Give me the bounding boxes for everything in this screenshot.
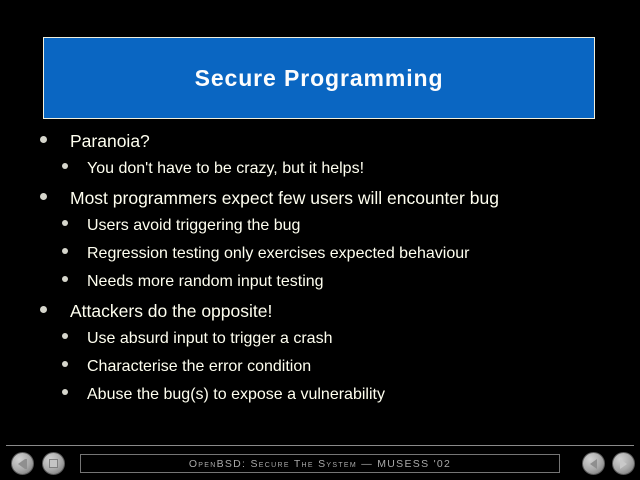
bullet-dot-icon	[40, 193, 47, 200]
bullet-label: Needs more random input testing	[87, 273, 324, 291]
skip-back-icon	[12, 453, 33, 474]
footer-caption-box: OpenBSD: Secure The System — MUSESS '02	[80, 454, 560, 473]
next-slide-button[interactable]	[612, 452, 635, 475]
bullet-label: Abuse the bug(s) to expose a vulnerabili…	[87, 386, 385, 404]
bullet-item: Paranoia?	[0, 131, 640, 160]
bullet-dot-icon	[62, 276, 68, 282]
bullet-dot-icon	[62, 361, 68, 367]
bullet-item: Characterise the error condition	[0, 358, 640, 386]
bullet-dot-icon	[62, 389, 68, 395]
bullet-label: Characterise the error condition	[87, 358, 311, 376]
bullet-item: Regression testing only exercises expect…	[0, 245, 640, 273]
first-slide-button[interactable]	[11, 452, 34, 475]
bullet-item: Use absurd input to trigger a crash	[0, 330, 640, 358]
bullet-label: You don't have to be crazy, but it helps…	[87, 160, 364, 178]
bullet-dot-icon	[40, 136, 47, 143]
stop-square-icon	[43, 453, 64, 474]
slide-canvas: Secure Programming Paranoia? You don't h…	[0, 0, 640, 480]
bullet-item: You don't have to be crazy, but it helps…	[0, 160, 640, 188]
bullet-dot-icon	[40, 306, 47, 313]
bullet-label: Paranoia?	[70, 131, 150, 152]
bullet-label: Attackers do the opposite!	[70, 301, 272, 322]
bullet-label: Use absurd input to trigger a crash	[87, 330, 332, 348]
bullet-list: Paranoia? You don't have to be crazy, bu…	[0, 131, 640, 414]
bullet-item: Needs more random input testing	[0, 273, 640, 301]
bullet-dot-icon	[62, 248, 68, 254]
bullet-dot-icon	[62, 163, 68, 169]
stop-button[interactable]	[42, 452, 65, 475]
triangle-right-icon	[613, 453, 634, 474]
previous-slide-button[interactable]	[582, 452, 605, 475]
bullet-item: Attackers do the opposite!	[0, 301, 640, 330]
bullet-dot-icon	[62, 220, 68, 226]
bullet-item: Users avoid triggering the bug	[0, 217, 640, 245]
bullet-item: Most programmers expect few users will e…	[0, 188, 640, 217]
bullet-label: Most programmers expect few users will e…	[70, 188, 499, 209]
title-banner: Secure Programming	[43, 37, 595, 119]
triangle-left-icon	[583, 453, 604, 474]
footer-divider	[6, 445, 634, 446]
bullet-label: Users avoid triggering the bug	[87, 217, 300, 235]
bullet-dot-icon	[62, 333, 68, 339]
bullet-item: Abuse the bug(s) to expose a vulnerabili…	[0, 386, 640, 414]
slide-title: Secure Programming	[195, 65, 444, 92]
bullet-label: Regression testing only exercises expect…	[87, 245, 469, 263]
footer-caption: OpenBSD: Secure The System — MUSESS '02	[189, 458, 451, 470]
